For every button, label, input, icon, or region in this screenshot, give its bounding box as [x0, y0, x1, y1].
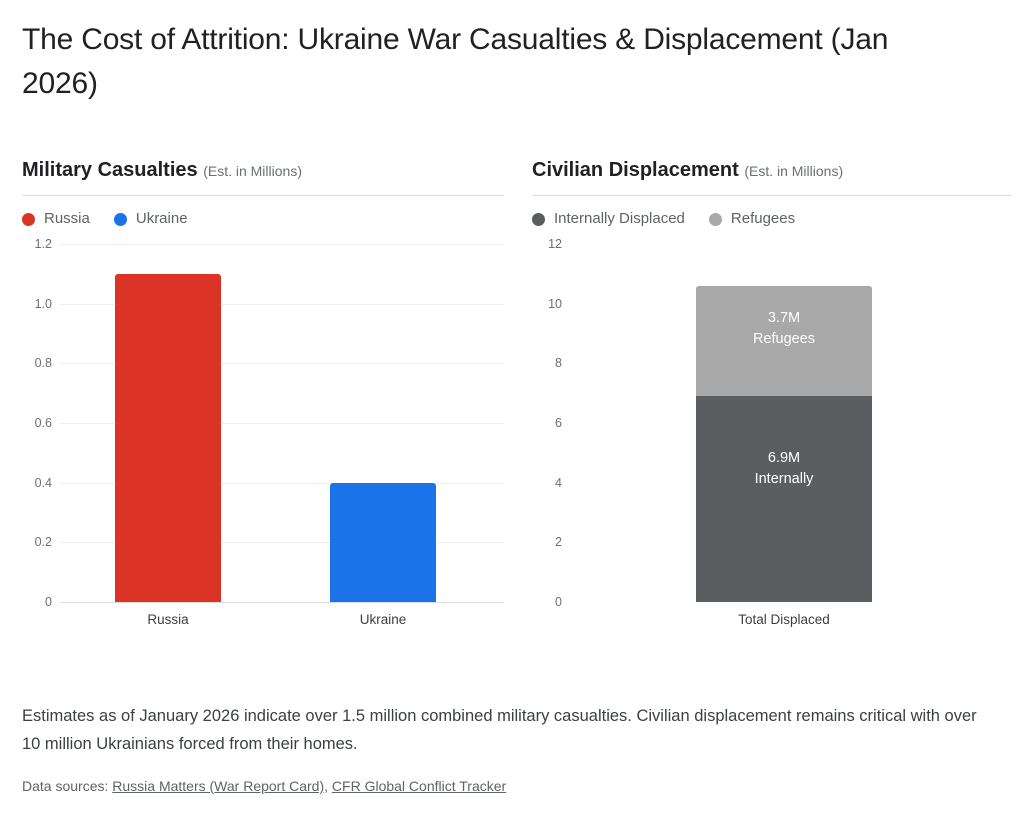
ytick-right-1: 2 — [532, 535, 562, 549]
bar-segment-internally-displaced[interactable]: 6.9M Internally — [696, 396, 872, 602]
source-link-russia-matters[interactable]: Russia Matters (War Report Card) — [112, 778, 324, 794]
ytick-right-5: 10 — [532, 297, 562, 311]
sources-separator: , — [324, 778, 328, 794]
ytick-right-3: 6 — [532, 416, 562, 430]
ytick-left-4: 0.8 — [22, 356, 52, 370]
legend-dot-refugees — [709, 213, 722, 226]
plot-area-military: 1.2 1.0 0.8 0.6 0.4 0.2 0 Russia Ukraine — [22, 244, 504, 636]
summary-text: Estimates as of January 2026 indicate ov… — [22, 702, 982, 758]
source-link-cfr[interactable]: CFR Global Conflict Tracker — [332, 778, 506, 794]
ytick-left-5: 1.0 — [22, 297, 52, 311]
legend-military: Russia Ukraine — [22, 208, 504, 230]
legend-label-internally-displaced: Internally Displaced — [554, 210, 685, 228]
legend-item-internally-displaced[interactable]: Internally Displaced — [532, 210, 685, 228]
panel-right-heading-sub: (Est. in Millions) — [744, 163, 843, 179]
ytick-left-6: 1.2 — [22, 237, 52, 251]
ytick-left-0: 0 — [22, 595, 52, 609]
panel-right-heading-main: Civilian Displacement — [532, 159, 739, 181]
legend-item-russia[interactable]: Russia — [22, 210, 90, 228]
ytick-left-3: 0.6 — [22, 416, 52, 430]
data-sources-line: Data sources: Russia Matters (War Report… — [22, 776, 506, 796]
gridline-1-2 — [60, 244, 504, 245]
ytick-right-2: 4 — [532, 476, 562, 490]
bar-label-refugees: 3.7M Refugees — [753, 308, 815, 350]
panel-right-heading: Civilian Displacement (Est. in Millions) — [532, 158, 1012, 183]
xlabel-total-displaced: Total Displaced — [738, 612, 830, 627]
ytick-left-2: 0.4 — [22, 476, 52, 490]
axis-baseline-military — [60, 602, 504, 603]
bar-label-refugees-value: 3.7M — [768, 310, 800, 326]
ytick-right-0: 0 — [532, 595, 562, 609]
legend-item-refugees[interactable]: Refugees — [709, 210, 795, 228]
panel-left-heading-main: Military Casualties — [22, 159, 198, 181]
legend-label-refugees: Refugees — [731, 210, 795, 228]
panel-civilian-displacement: Civilian Displacement (Est. in Millions)… — [532, 158, 1012, 636]
legend-dot-ukraine — [114, 213, 127, 226]
bar-russia[interactable] — [115, 274, 221, 602]
panel-military-casualties: Military Casualties (Est. in Millions) R… — [22, 158, 504, 636]
bar-label-internally-text: Internally — [755, 471, 814, 487]
ytick-right-6: 12 — [532, 237, 562, 251]
bar-label-internally-displaced: 6.9M Internally — [755, 448, 814, 490]
ytick-left-1: 0.2 — [22, 535, 52, 549]
legend-label-ukraine: Ukraine — [136, 210, 188, 228]
legend-displacement: Internally Displaced Refugees — [532, 208, 1012, 230]
xlabel-russia: Russia — [147, 612, 188, 627]
page-title: The Cost of Attrition: Ukraine War Casua… — [22, 18, 922, 106]
chart-page: The Cost of Attrition: Ukraine War Casua… — [0, 0, 1024, 817]
panel-left-divider — [22, 195, 504, 196]
ytick-right-4: 8 — [532, 356, 562, 370]
legend-dot-internally-displaced — [532, 213, 545, 226]
panel-right-divider — [532, 195, 1012, 196]
legend-dot-russia — [22, 213, 35, 226]
bar-ukraine[interactable] — [330, 483, 436, 602]
plot-area-displacement: 12 10 8 6 4 2 0 3.7M Refugees 6.9M Inter… — [532, 244, 1012, 636]
data-sources-prefix: Data sources: — [22, 778, 108, 794]
xlabel-ukraine: Ukraine — [360, 612, 407, 627]
panel-left-heading: Military Casualties (Est. in Millions) — [22, 158, 504, 183]
bar-label-refugees-text: Refugees — [753, 331, 815, 347]
panel-left-heading-sub: (Est. in Millions) — [203, 163, 302, 179]
bar-label-internally-value: 6.9M — [768, 450, 800, 466]
bar-segment-refugees[interactable]: 3.7M Refugees — [696, 286, 872, 396]
legend-label-russia: Russia — [44, 210, 90, 228]
legend-item-ukraine[interactable]: Ukraine — [114, 210, 188, 228]
